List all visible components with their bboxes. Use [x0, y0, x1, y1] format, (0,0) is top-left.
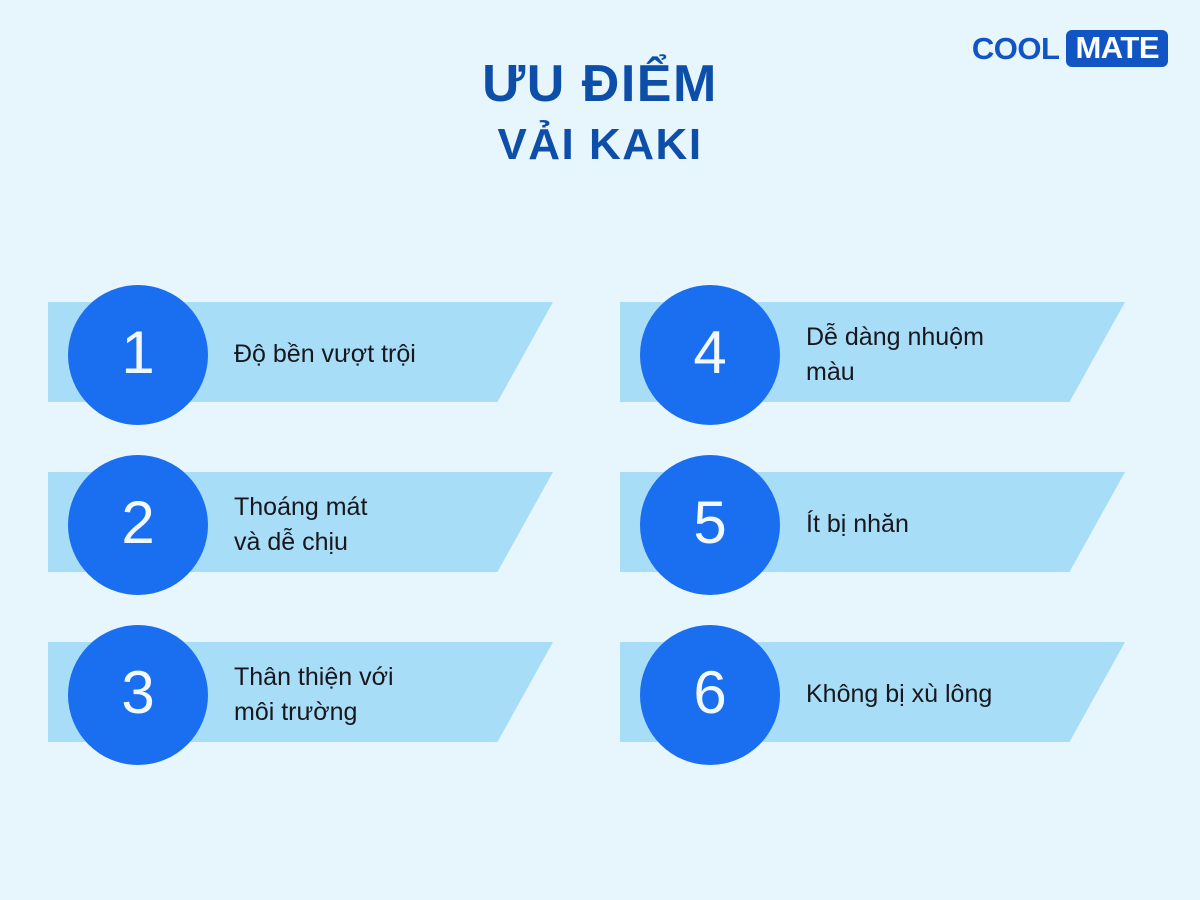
list-item: 1 Độ bền vượt trội — [48, 285, 588, 425]
item-number-badge: 2 — [68, 455, 208, 595]
item-number-badge: 3 — [68, 625, 208, 765]
item-number: 6 — [693, 663, 726, 723]
item-number-badge: 1 — [68, 285, 208, 425]
item-number-badge: 6 — [640, 625, 780, 765]
item-label: Thân thiện với môi trường — [234, 625, 534, 765]
item-number: 2 — [121, 493, 154, 553]
page-title-line-1: ƯU ĐIỂM — [0, 58, 1200, 111]
item-number: 1 — [121, 323, 154, 383]
item-number: 4 — [693, 323, 726, 383]
item-number: 3 — [121, 663, 154, 723]
item-label: Độ bền vượt trội — [234, 285, 534, 425]
item-number: 5 — [693, 493, 726, 553]
item-label: Ít bị nhăn — [806, 455, 1106, 595]
item-label: Dễ dàng nhuộm màu — [806, 285, 1106, 425]
item-label: Thoáng mát và dễ chịu — [234, 455, 534, 595]
page-title: ƯU ĐIỂM VẢI KAKI — [0, 58, 1200, 168]
advantages-list: 1 Độ bền vượt trội 4 Dễ dàng nhuộm màu 2… — [0, 285, 1200, 795]
advantages-row: 1 Độ bền vượt trội 4 Dễ dàng nhuộm màu — [0, 285, 1200, 455]
item-label: Không bị xù lông — [806, 625, 1106, 765]
advantages-row: 3 Thân thiện với môi trường 6 Không bị x… — [0, 625, 1200, 795]
list-item: 2 Thoáng mát và dễ chịu — [48, 455, 588, 595]
advantages-row: 2 Thoáng mát và dễ chịu 5 Ít bị nhăn — [0, 455, 1200, 625]
item-number-badge: 5 — [640, 455, 780, 595]
list-item: 5 Ít bị nhăn — [620, 455, 1160, 595]
item-number-badge: 4 — [640, 285, 780, 425]
list-item: 6 Không bị xù lông — [620, 625, 1160, 765]
page-title-line-2: VẢI KAKI — [0, 123, 1200, 168]
list-item: 4 Dễ dàng nhuộm màu — [620, 285, 1160, 425]
list-item: 3 Thân thiện với môi trường — [48, 625, 588, 765]
